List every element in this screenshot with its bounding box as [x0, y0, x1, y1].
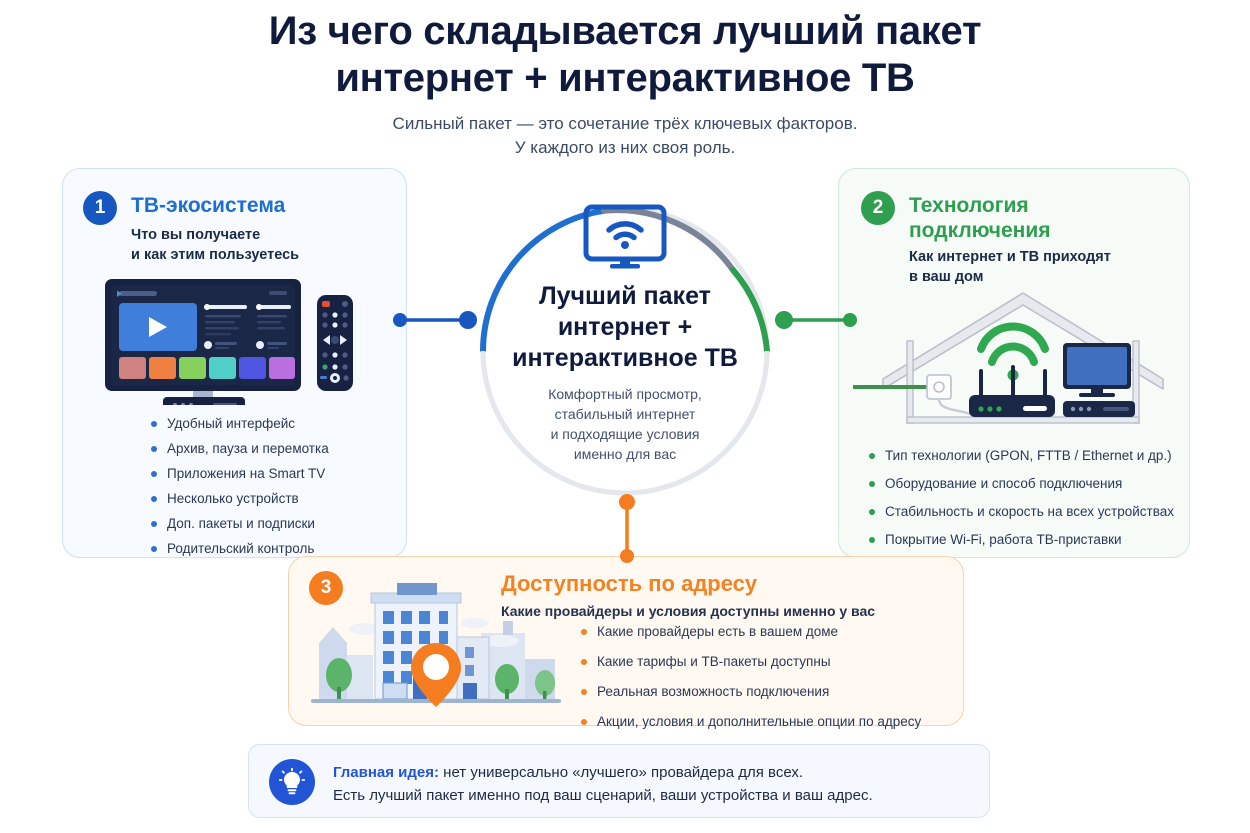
- center-hub: Лучший пакет интернет + интерактивное ТВ…: [448, 186, 803, 516]
- list-item: Доп. пакеты и подписки: [149, 515, 329, 532]
- card-address-availability[interactable]: 3 Доступность по адресу Какие провайдеры…: [288, 556, 964, 726]
- card-number-badge-2: 2: [861, 191, 895, 225]
- card-1-subtitle-line1: Что вы получаете: [131, 225, 299, 245]
- city-illustration: [305, 571, 567, 713]
- house-illustration: [851, 287, 1181, 427]
- key-idea-line1-rest: нет универсально «лучшего» провайдера дл…: [439, 764, 803, 781]
- center-title-line2: интернет +: [494, 312, 756, 343]
- list-item: Какие тарифы и ТВ-пакеты доступны: [579, 653, 921, 670]
- infographic-root: Из чего складывается лучший пакет интерн…: [0, 0, 1250, 833]
- key-idea-line1: Главная идея: нет универсально «лучшего»…: [333, 761, 973, 784]
- page-subtitle: Сильный пакет — это сочетание трёх ключе…: [0, 112, 1250, 160]
- center-content: Лучший пакет интернет + интерактивное ТВ…: [494, 204, 756, 464]
- list-item: Тип технологии (GPON, FTTB / Ethernet и …: [867, 447, 1174, 464]
- center-desc-line3: и подходящие условия: [494, 424, 756, 444]
- card-3-bullet-list: Какие провайдеры есть в вашем доме Какие…: [579, 623, 921, 743]
- center-title-line3: интерактивное ТВ: [494, 343, 756, 374]
- lightbulb-icon: [279, 768, 305, 796]
- list-item: Приложения на Smart TV: [149, 465, 329, 482]
- connector-dot-card2: [843, 313, 857, 327]
- list-item: Стабильность и скорость на всех устройст…: [867, 503, 1174, 520]
- page-title-line2: интернет + интерактивное ТВ: [0, 55, 1250, 102]
- card-2-bullet-list: Тип технологии (GPON, FTTB / Ethernet и …: [867, 447, 1174, 559]
- card-1-heading: ТВ-экосистема: [131, 193, 285, 218]
- center-desc-line4: именно для вас: [494, 444, 756, 464]
- card-1-bullet-list: Удобный интерфейс Архив, пауза и перемот…: [149, 415, 329, 565]
- list-item: Родительский контроль: [149, 540, 329, 557]
- list-item: Покрытие Wi-Fi, работа ТВ-приставки: [867, 531, 1174, 548]
- page-title-line1: Из чего складывается лучший пакет: [0, 8, 1250, 55]
- card-2-heading: Технология подключения: [909, 193, 1051, 243]
- key-idea-line2: Есть лучший пакет именно под ваш сценари…: [333, 784, 973, 807]
- connector-bottom-orange: [612, 490, 642, 570]
- connector-dot-card3: [620, 549, 634, 563]
- card-tv-ecosystem[interactable]: 1 ТВ-экосистема Что вы получаете и как э…: [62, 168, 407, 558]
- page-subtitle-line1: Сильный пакет — это сочетание трёх ключе…: [0, 112, 1250, 136]
- list-item: Какие провайдеры есть в вашем доме: [579, 623, 921, 640]
- list-item: Удобный интерфейс: [149, 415, 329, 432]
- connector-dot-center-right: [775, 311, 793, 329]
- tv-wifi-icon: [582, 204, 668, 270]
- card-number-badge-1: 1: [83, 191, 117, 225]
- connector-dot-center-bottom: [619, 494, 635, 510]
- card-1-subtitle: Что вы получаете и как этим пользуетесь: [131, 225, 299, 265]
- connector-dot-card1: [393, 313, 407, 327]
- header: Из чего складывается лучший пакет интерн…: [0, 8, 1250, 160]
- lightbulb-badge: [269, 759, 315, 805]
- center-description: Комфортный просмотр, стабильный интернет…: [494, 384, 756, 464]
- key-idea-text: Главная идея: нет универсально «лучшего»…: [333, 761, 973, 807]
- card-2-subtitle: Как интернет и ТВ приходят в ваш дом: [909, 247, 1111, 287]
- page-title: Из чего складывается лучший пакет интерн…: [0, 8, 1250, 102]
- list-item: Акции, условия и дополнительные опции по…: [579, 713, 921, 730]
- list-item: Оборудование и способ подключения: [867, 475, 1174, 492]
- card-connection-technology[interactable]: 2 Технология подключения Как интернет и …: [838, 168, 1190, 558]
- connector-left-blue: [390, 305, 500, 335]
- connector-right-green: [762, 305, 872, 335]
- card-2-heading-line1: Технология: [909, 193, 1051, 218]
- card-1-subtitle-line2: и как этим пользуетесь: [131, 245, 299, 265]
- center-title-line1: Лучший пакет: [494, 281, 756, 312]
- center-title: Лучший пакет интернет + интерактивное ТВ: [494, 281, 756, 374]
- list-item: Архив, пауза и перемотка: [149, 440, 329, 457]
- card-2-heading-line2: подключения: [909, 218, 1051, 243]
- list-item: Реальная возможность подключения: [579, 683, 921, 700]
- key-idea-label: Главная идея:: [333, 764, 439, 781]
- card-2-subtitle-line1: Как интернет и ТВ приходят: [909, 247, 1111, 267]
- center-desc-line2: стабильный интернет: [494, 404, 756, 424]
- smart-tv-illustration: [101, 277, 369, 405]
- list-item: Несколько устройств: [149, 490, 329, 507]
- center-desc-line1: Комфортный просмотр,: [494, 384, 756, 404]
- card-2-subtitle-line2: в ваш дом: [909, 267, 1111, 287]
- key-idea-banner: Главная идея: нет универсально «лучшего»…: [248, 744, 990, 818]
- connector-dot-center-left: [459, 311, 477, 329]
- page-subtitle-line2: У каждого из них своя роль.: [0, 136, 1250, 160]
